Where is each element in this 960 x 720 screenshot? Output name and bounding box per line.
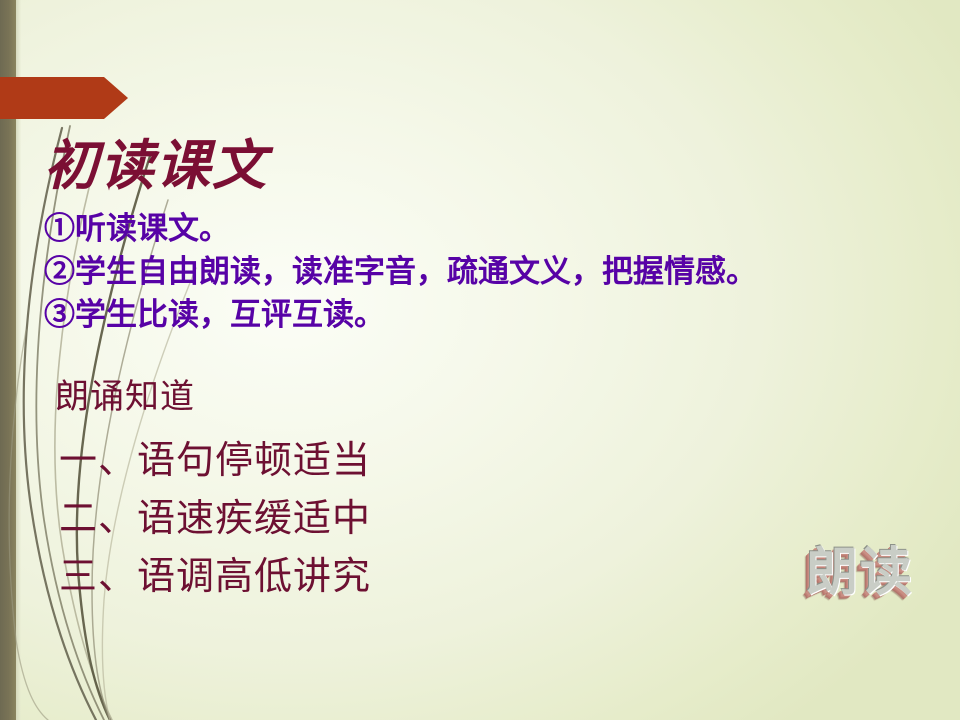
list-item: ①听读课文。 — [44, 208, 757, 251]
list-item: 二、语速疾缓适中 — [55, 491, 371, 549]
list-item: 三、语调高低讲究 — [55, 549, 371, 607]
list-item: 一、语句停顿适当 — [55, 433, 371, 491]
presentation-slide: 初读课文 ①听读课文。 ②学生自由朗读，读准字音，疏通文义，把握情感。 ③学生比… — [0, 0, 960, 720]
watermark-text: 朗读 — [806, 530, 914, 605]
recitation-list: 一、语句停顿适当 二、语速疾缓适中 三、语调高低讲究 — [55, 433, 371, 606]
page-title: 初读课文 — [44, 138, 268, 195]
recitation-block: 朗诵知道 一、语句停顿适当 二、语速疾缓适中 三、语调高低讲究 — [55, 378, 371, 606]
steps-list: ①听读课文。 ②学生自由朗读，读准字音，疏通文义，把握情感。 ③学生比读，互评互… — [44, 208, 757, 336]
list-item: ②学生自由朗读，读准字音，疏通文义，把握情感。 — [44, 251, 757, 294]
banner-arrow-shape — [0, 77, 128, 119]
recitation-heading: 朗诵知道 — [55, 378, 371, 417]
list-item: ③学生比读，互评互读。 — [44, 294, 757, 337]
